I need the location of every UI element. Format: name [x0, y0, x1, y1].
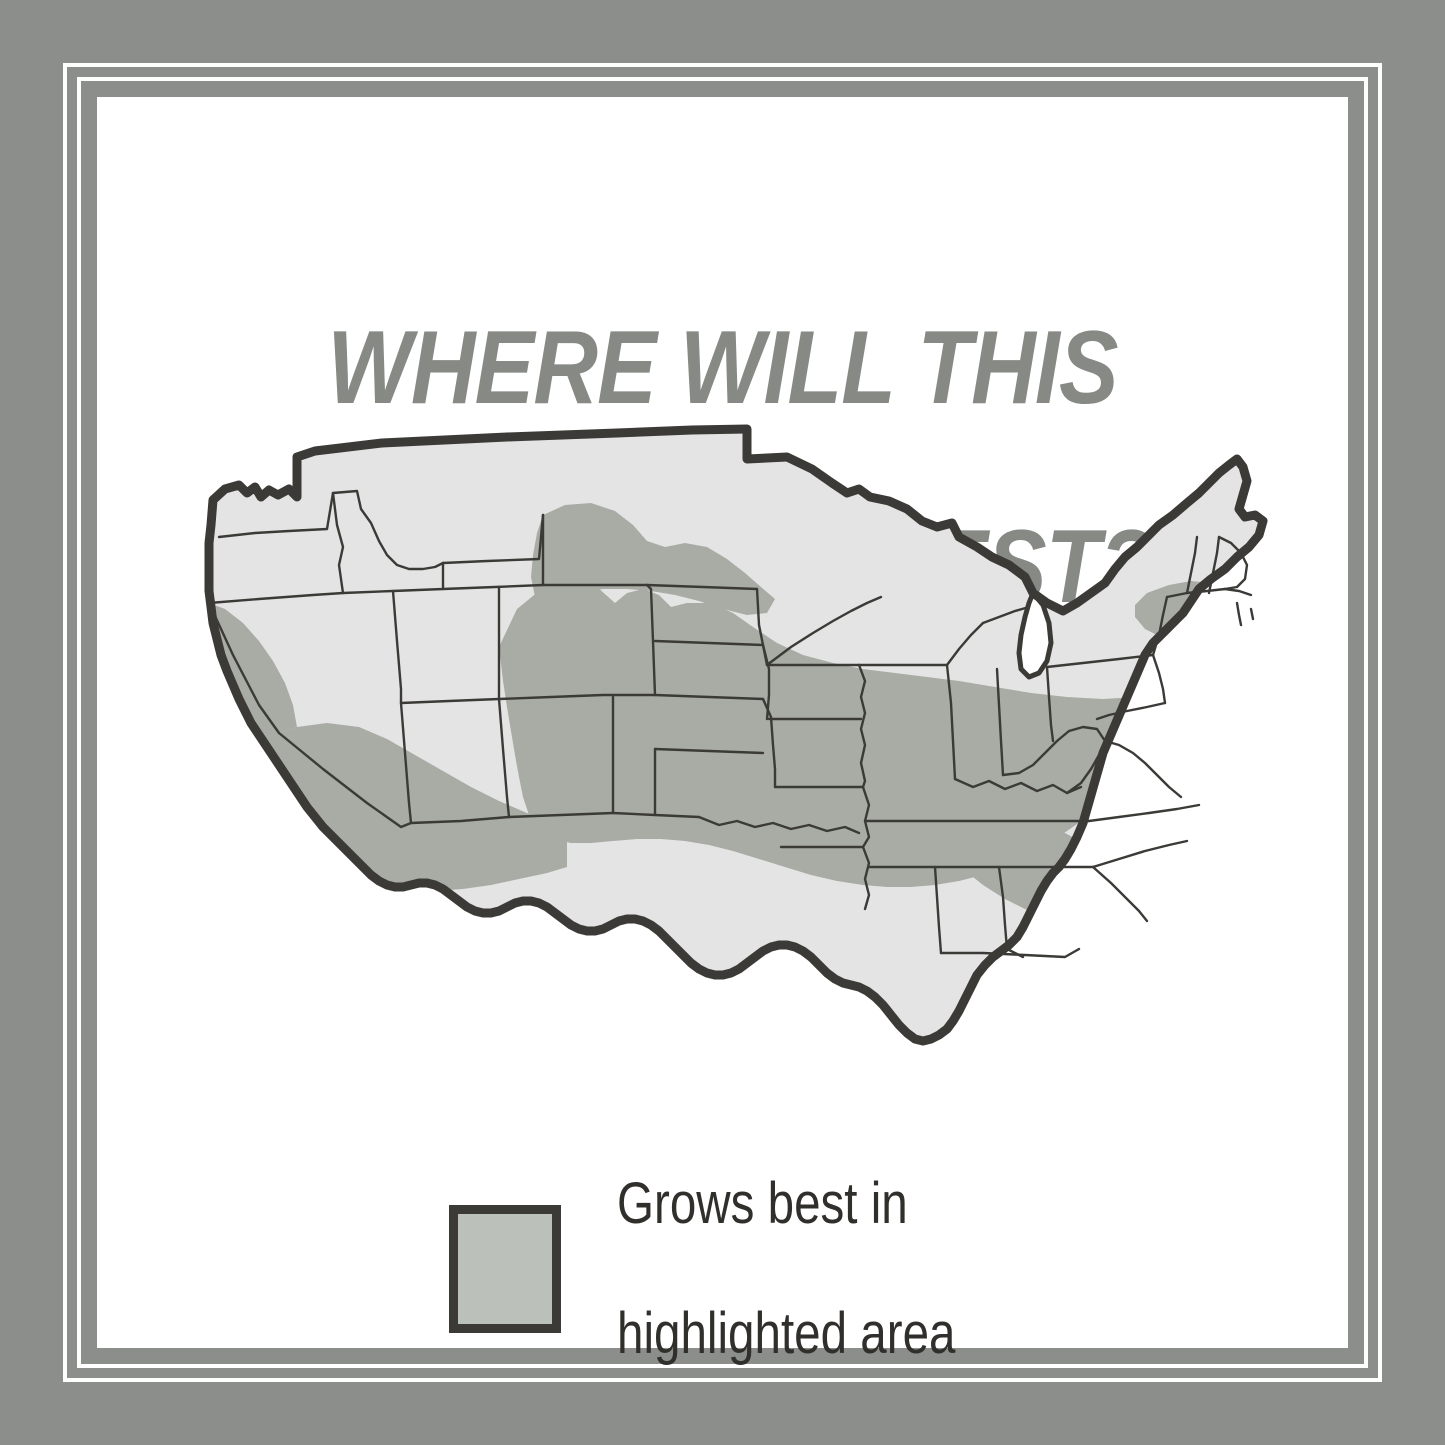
legend-label-line-2: highlighted area: [617, 1302, 955, 1367]
legend-label: Grows best in highlighted area: [617, 1107, 955, 1432]
legend-swatch-highlight: [449, 1205, 561, 1333]
poster-canvas: WHERE WILL THIS SEED GROW BEST?: [97, 97, 1348, 1348]
us-growing-zone-map: [147, 397, 1297, 1087]
us-map-svg: [147, 397, 1297, 1087]
poster-root: WHERE WILL THIS SEED GROW BEST?: [0, 0, 1445, 1445]
legend-label-line-1: Grows best in: [617, 1172, 955, 1237]
map-legend: Grows best in highlighted area: [449, 1107, 1030, 1432]
